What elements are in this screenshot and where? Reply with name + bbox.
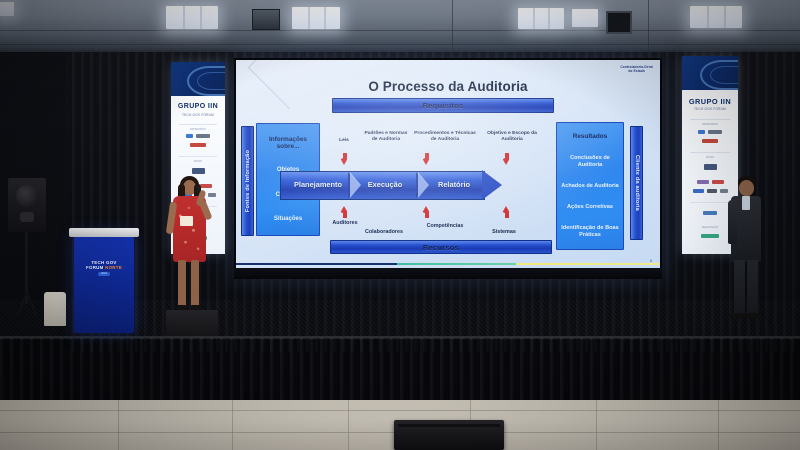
banner-right-logo-row: [682, 164, 738, 170]
presenter-shoe: [190, 305, 201, 310]
banner-right-caption: APOIO: [682, 156, 738, 159]
presenter-woman: [160, 176, 220, 318]
podium-logo-norte: NORTE: [105, 265, 122, 270]
host-shoe: [746, 313, 762, 319]
down-arrow-icon: [422, 153, 431, 165]
presenter-shoe: [176, 305, 187, 310]
banner-right-logo-row: [682, 130, 738, 134]
podium: TECH GOV FORUM NORTE 2024: [74, 233, 134, 333]
banner-right-logo-row: [682, 139, 738, 143]
ceiling-light: [292, 7, 340, 29]
resource-label-competencias: Competências: [416, 223, 474, 229]
podium-logo: TECH GOV FORUM NORTE 2024: [81, 255, 127, 281]
name-badge: [180, 216, 193, 226]
ceiling-vent: [606, 11, 632, 34]
information-panel-item: Situações: [274, 216, 302, 223]
banner-left-logo-row: [171, 134, 225, 138]
results-panel-item: Conclusões de Auditoria: [559, 155, 621, 168]
up-arrow-icon: [502, 206, 511, 218]
presenter-leg: [191, 260, 199, 308]
slide-title: O Processo da Auditoria: [236, 79, 660, 94]
banner-right-subtitle: TECH GOV FORUM: [682, 107, 738, 111]
host-shirt-collar: [742, 196, 750, 210]
process-flow-arrow: Planejamento Execução Relatório: [280, 171, 502, 200]
resources-bar: Recursos: [330, 240, 552, 254]
banner-left-header: [171, 62, 225, 96]
process-step-relatorio: Relatório: [422, 180, 486, 189]
slide-page-number: 6: [650, 259, 652, 263]
information-panel-header: Informações sobre...: [259, 136, 317, 151]
stage-skirt: [0, 338, 800, 402]
input-label-objetivo: Objetivo e Escopo da Auditoria: [484, 131, 540, 143]
chair: [44, 292, 66, 326]
requirements-bar: Requisitos: [332, 98, 554, 113]
right-rail-cliente-da-auditoria: Cliente da auditoria: [630, 126, 643, 240]
host-leg: [747, 260, 758, 316]
photo-scene: Controladoria-Geral do Estado O Processo…: [0, 0, 800, 450]
banner-left-caption: PATROCÍNIO: [171, 128, 225, 131]
pa-speaker: [8, 178, 46, 232]
banner-left-logo-row: [171, 168, 225, 174]
results-panel-item: Achados de Auditoria: [561, 183, 619, 190]
presenter-leg: [178, 260, 186, 308]
projection-screen-base: [234, 268, 662, 279]
host-arm: [728, 200, 737, 244]
results-panel: Resultados Conclusões de Auditoria Achad…: [556, 122, 624, 250]
banner-right-title: GRUPO IIN: [682, 97, 738, 106]
ceiling-light: [166, 6, 218, 29]
host-head: [739, 180, 754, 196]
banner-right-caption: PATROCÍNIO: [682, 123, 738, 126]
results-panel-item: Ações Corretivas: [567, 204, 613, 211]
down-arrow-icon: [340, 153, 349, 165]
host-man: [726, 176, 778, 328]
banner-right-header: [682, 56, 738, 90]
ceiling-light: [518, 8, 564, 29]
podium-top-surface: [69, 228, 139, 237]
input-label-leis: Leis: [328, 138, 360, 144]
podium-logo-forum: FORUM: [86, 265, 105, 270]
process-step-execucao: Execução: [356, 180, 414, 189]
podium-logo-line-2: FORUM NORTE: [86, 265, 122, 270]
results-panel-item: Identificação de Boas Práticas: [559, 225, 621, 238]
input-label-procedimentos: Procedimentos e Técnicas de Auditoria: [414, 131, 476, 143]
host-shoe: [730, 313, 746, 319]
organization-logo: Controladoria-Geral do Estado: [620, 66, 653, 74]
host-leg: [734, 260, 745, 316]
right-rail-label: Cliente da auditoria: [634, 155, 640, 211]
ceiling-light: [690, 6, 742, 28]
banner-left-caption: APOIO: [171, 160, 225, 163]
ceiling-light: [0, 2, 14, 16]
microphone[interactable]: [197, 184, 200, 193]
banner-left-subtitle: TECH GOV FORUM: [171, 113, 225, 117]
banner-left-logo-row: [171, 143, 225, 147]
ceiling-light: [572, 9, 598, 27]
presentation-slide: Controladoria-Geral do Estado O Processo…: [236, 60, 660, 268]
ceiling-vent: [252, 9, 280, 30]
podium-logo-pill: 2024: [98, 272, 110, 276]
up-arrow-icon: [422, 206, 431, 218]
slide-footer-stripe: [236, 263, 660, 265]
down-arrow-icon: [502, 153, 511, 165]
left-rail-fontes-de-informacao: Fontes de Informação: [241, 126, 254, 236]
up-arrow-icon: [340, 206, 349, 218]
process-step-planejamento: Planejamento: [284, 180, 352, 189]
resource-label-colaboradores: Colaboradores: [354, 229, 414, 235]
input-label-padroes: Padrões e Normas de Auditoria: [362, 131, 410, 143]
left-rail-label: Fontes de Informação: [245, 150, 251, 212]
results-panel-header: Resultados: [573, 133, 607, 140]
banner-left-title: GRUPO IIN: [171, 103, 225, 110]
ceiling: [0, 0, 800, 56]
logo-line-2: do Estado: [620, 70, 653, 74]
foreground-monitor: [394, 420, 504, 450]
resource-label-auditores: Auditores: [324, 220, 366, 226]
resource-label-sistemas: Sistemas: [482, 229, 526, 235]
